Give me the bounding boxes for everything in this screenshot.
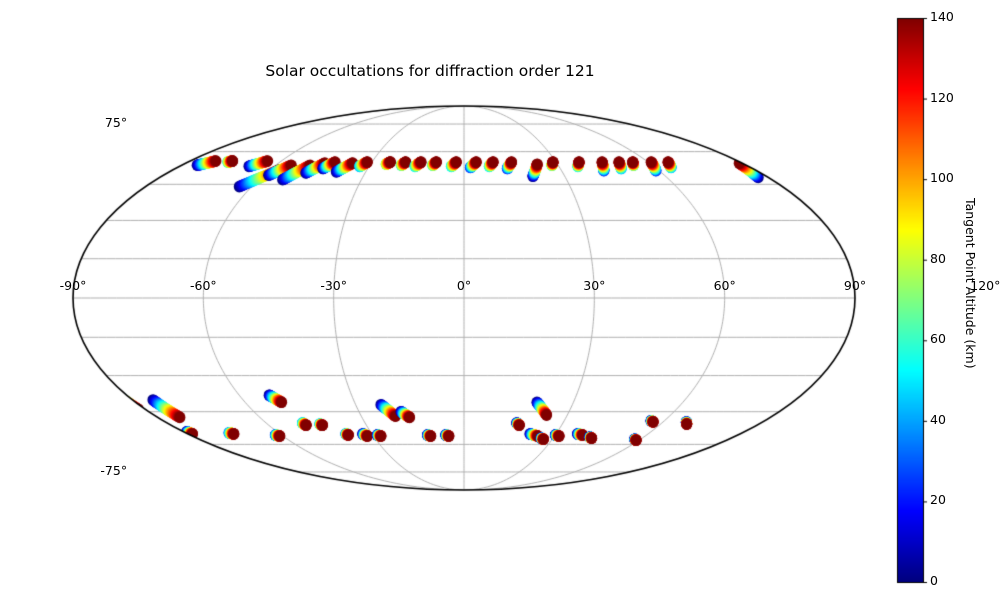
mollweide-map-canvas xyxy=(0,0,1000,600)
figure-canvas-container: Solar occultations for diffraction order… xyxy=(0,0,1000,600)
